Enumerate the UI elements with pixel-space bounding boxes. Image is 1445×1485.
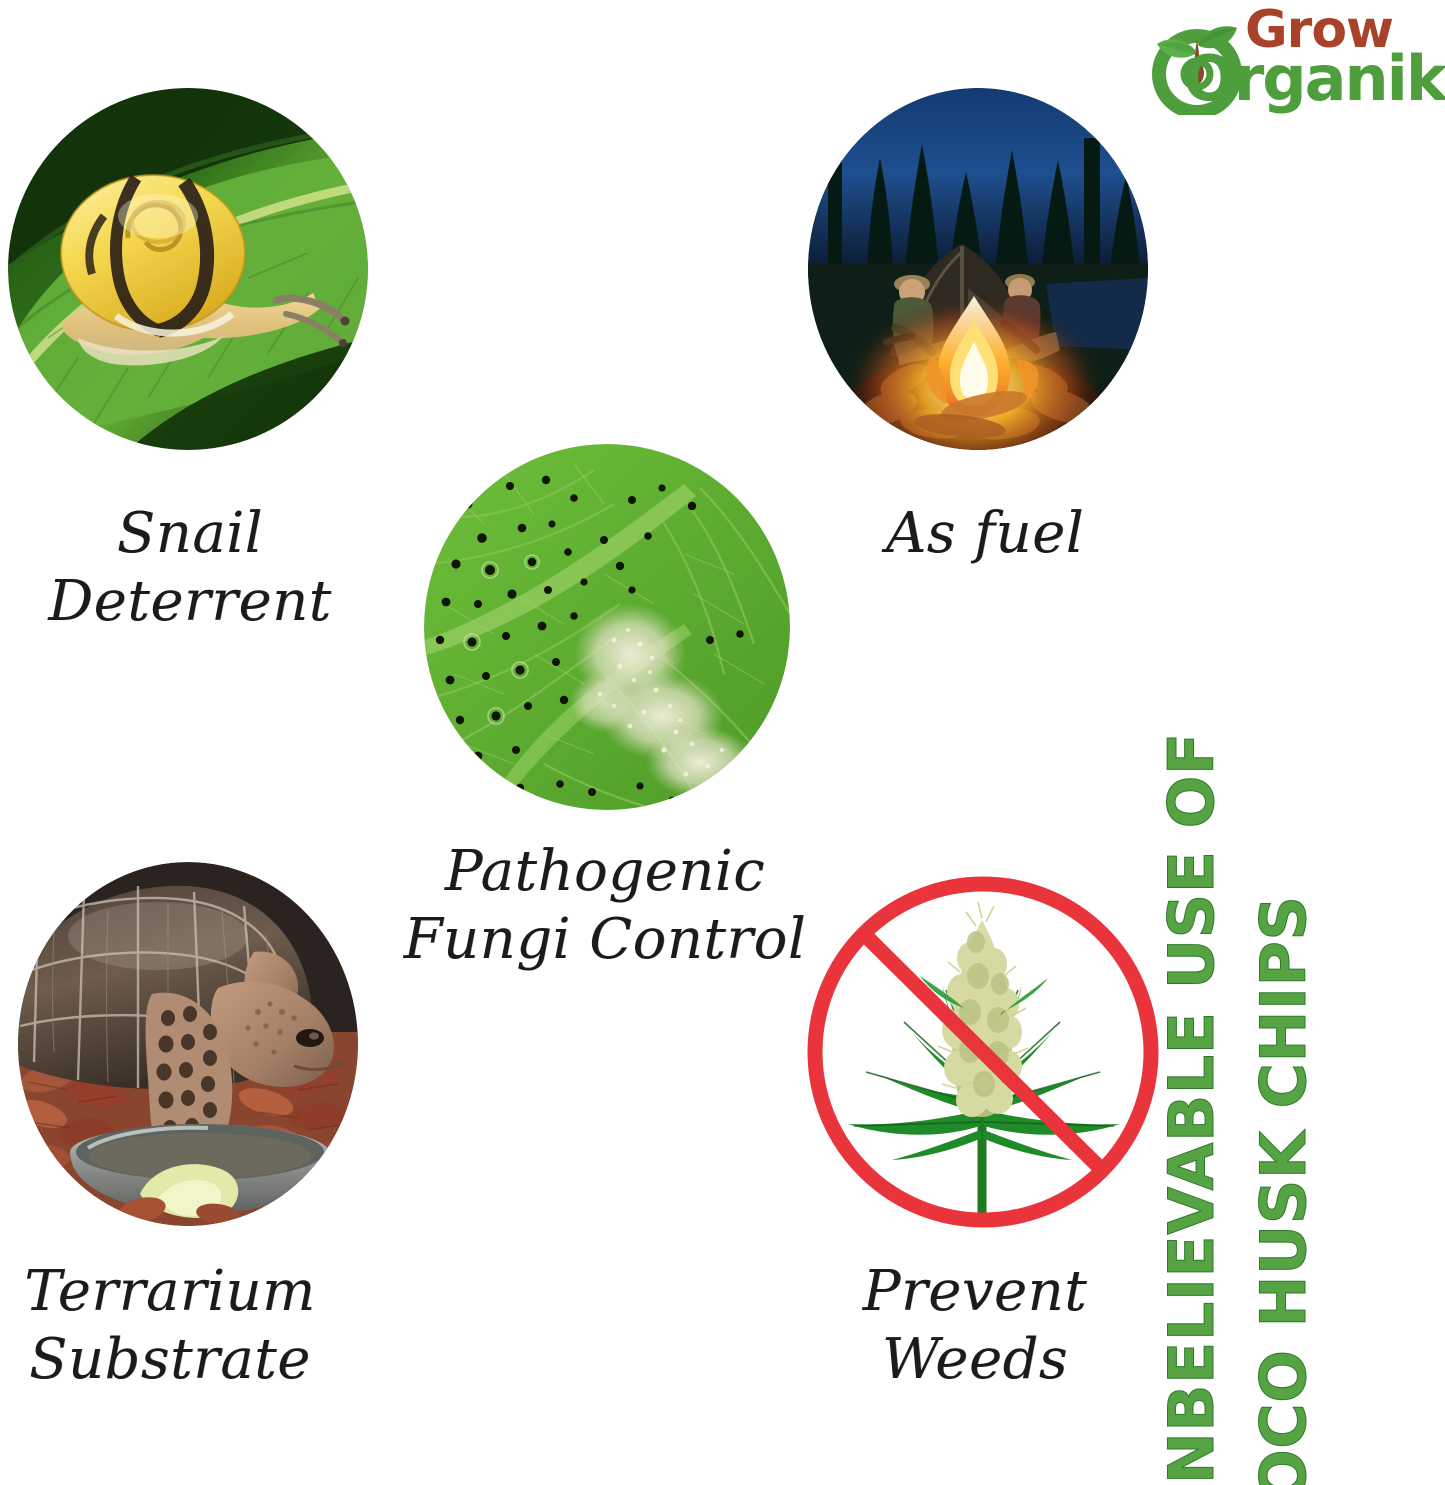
headline-line-1: UNBELIEVABLE USE OF — [1155, 732, 1228, 1485]
diseased-leaf-photo — [424, 444, 790, 810]
caption-prevent-weeds: Prevent Weeds — [810, 1258, 1140, 1395]
caption-pathogenic-fungi-control: Pathogenic Fungi Control — [380, 838, 830, 975]
snail-on-leaf-photo — [8, 88, 368, 450]
logo-text-organiks: Organiks — [1183, 42, 1445, 115]
tortoise-photo-art — [18, 862, 358, 1226]
diseased-leaf-art — [424, 444, 790, 810]
infographic-page: Grow Organiks — [0, 0, 1445, 1485]
caption-terrarium-substrate: Terrarium Substrate — [0, 1258, 340, 1395]
caption-snail-deterrent: Snail Deterrent — [0, 500, 380, 637]
headline-line-2: COCO HUSK CHIPS — [1247, 895, 1320, 1485]
snail-photo-art — [8, 88, 368, 450]
campfire-photo — [808, 88, 1148, 450]
campfire-photo-art — [808, 88, 1148, 450]
brand-logo: Grow Organiks — [1145, 4, 1445, 114]
no-weeds-symbol — [800, 872, 1166, 1232]
caption-as-fuel: As fuel — [830, 500, 1140, 568]
tortoise-on-substrate-photo — [18, 862, 358, 1226]
no-weeds-art — [800, 872, 1166, 1232]
